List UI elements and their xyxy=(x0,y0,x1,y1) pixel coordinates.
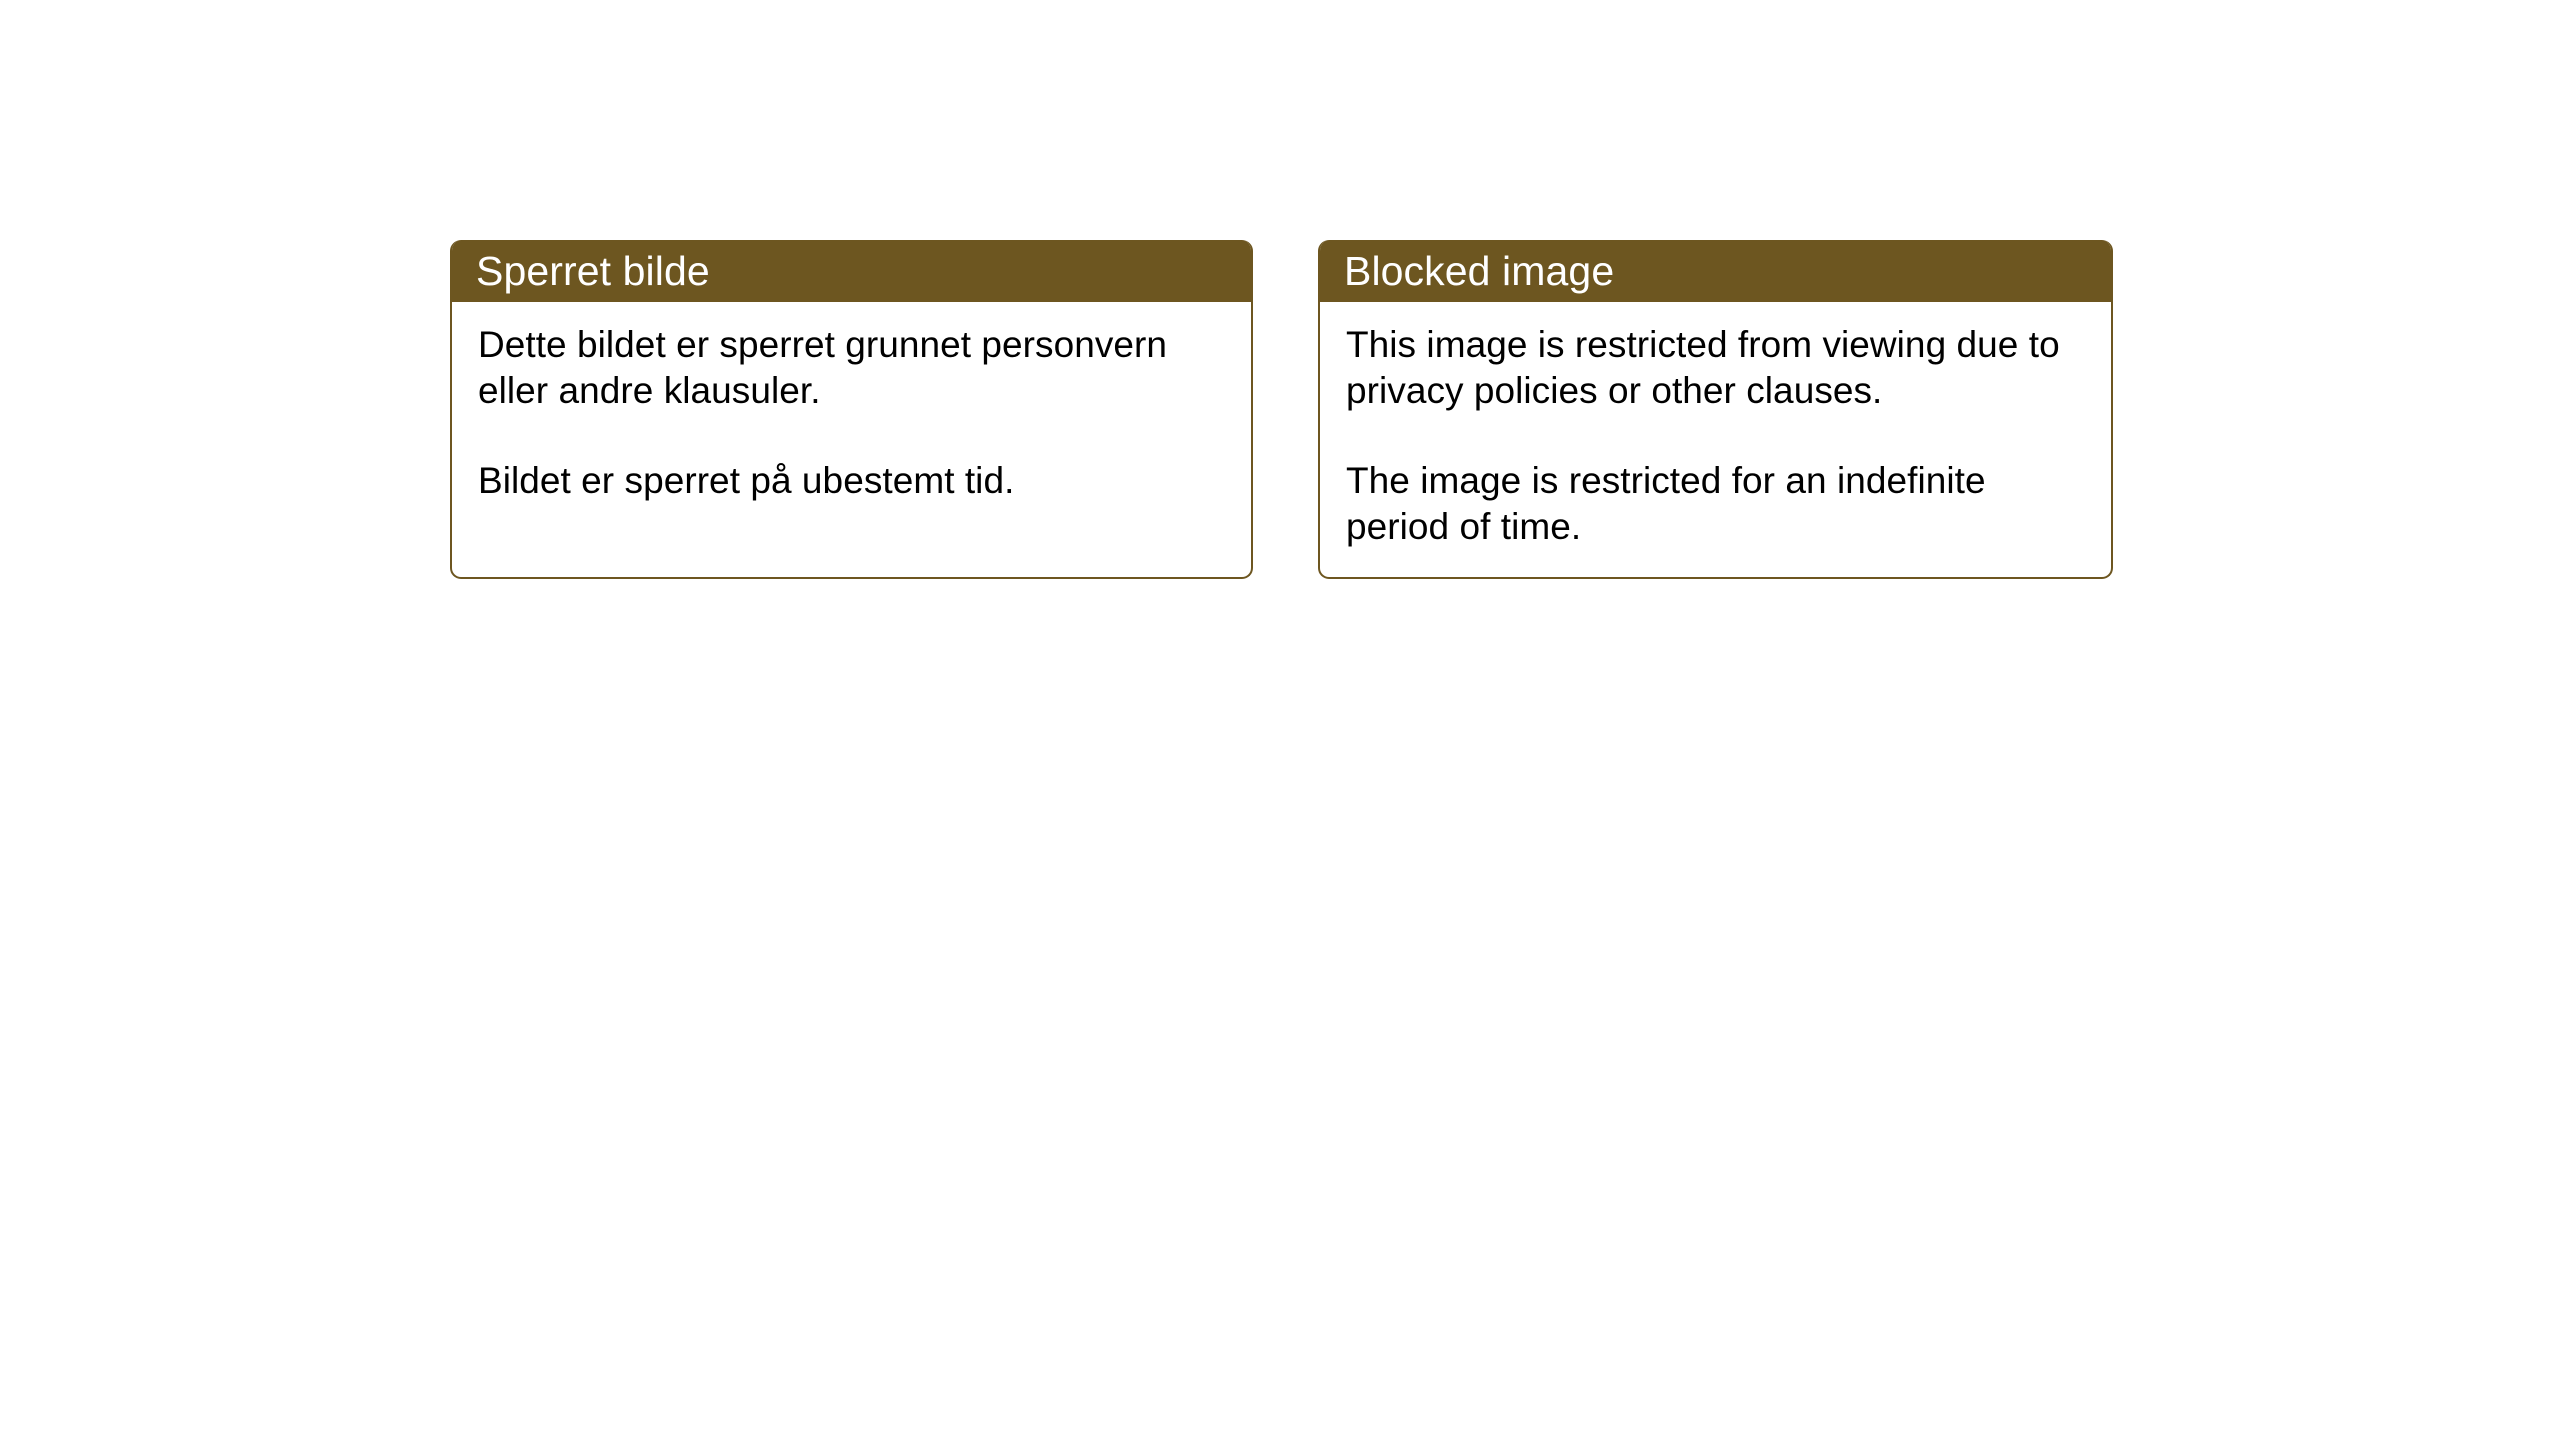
paragraph-spacer xyxy=(1346,414,2087,458)
notice-paragraph-reason-english: This image is restricted from viewing du… xyxy=(1346,322,2087,414)
notice-header-english: Blocked image xyxy=(1318,240,2113,302)
blocked-image-notice-english: Blocked image This image is restricted f… xyxy=(1318,240,2113,579)
notice-title-norwegian: Sperret bilde xyxy=(476,248,710,294)
notice-body-norwegian: Dette bildet er sperret grunnet personve… xyxy=(452,302,1251,504)
notice-body-english: This image is restricted from viewing du… xyxy=(1320,302,2111,550)
notice-paragraph-duration-english: The image is restricted for an indefinit… xyxy=(1346,458,2087,550)
notice-paragraph-reason-norwegian: Dette bildet er sperret grunnet personve… xyxy=(478,322,1227,414)
paragraph-spacer xyxy=(478,414,1227,458)
page-canvas: Sperret bilde Dette bildet er sperret gr… xyxy=(0,0,2560,1440)
notice-title-english: Blocked image xyxy=(1344,248,1614,294)
notice-header-norwegian: Sperret bilde xyxy=(450,240,1253,302)
blocked-image-notice-norwegian: Sperret bilde Dette bildet er sperret gr… xyxy=(450,240,1253,579)
notice-paragraph-duration-norwegian: Bildet er sperret på ubestemt tid. xyxy=(478,458,1227,504)
